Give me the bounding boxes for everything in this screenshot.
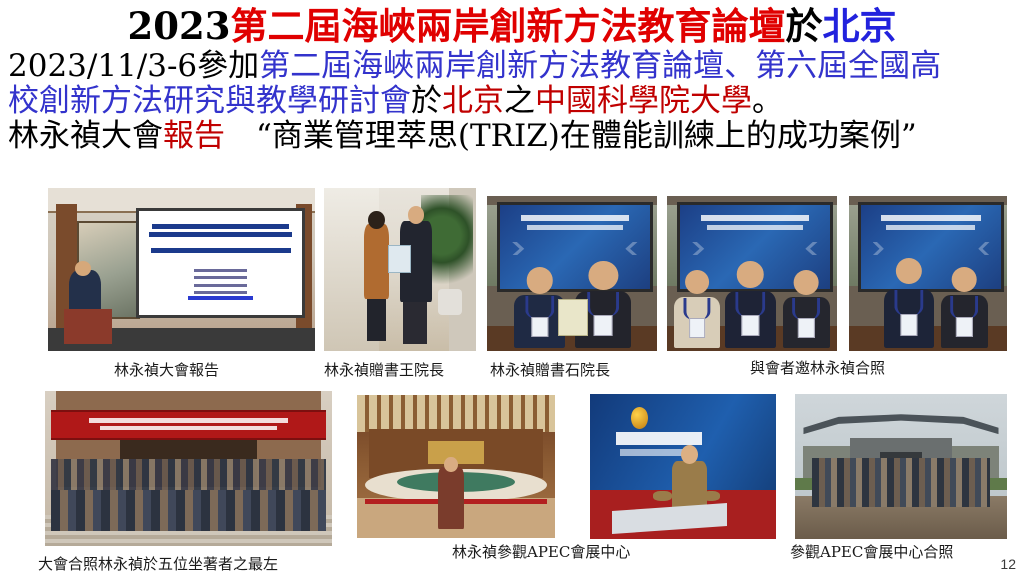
caption-apec-center-group: 參觀APEC會展中心合照 [790,541,953,562]
caption-book-gift-dean-wang: 林永禎贈書王院長 [324,359,444,380]
person-right [783,270,831,348]
photo-attendees-group-b [849,196,1007,351]
caption-conference-group: 大會合照林永禎於五位坐著者之最左 [38,553,278,574]
attendees-group-a-scene [667,196,837,351]
photo-apec-hall-visit [357,395,555,538]
book-gift-shi-scene [487,196,657,351]
photo-conference-group [45,391,332,546]
caption-book-gift-dean-shi: 林永禎贈書石院長 [490,359,610,380]
person-left [884,258,935,348]
caption-apec-hall-visit: 林永禎參觀APEC會展中心 [452,541,630,562]
photo-book-gift-dean-wang [324,188,476,351]
conference-group-scene [45,391,332,546]
photo-apec-forum-stage [590,394,776,539]
photo-apec-center-group [795,394,1007,539]
book-gift-wang-scene [324,188,476,351]
page-number: 12 [1000,556,1016,572]
apec-forum-stage-scene [590,394,776,539]
photo-keynote-speech [48,188,315,351]
caption-attendees-group-a: 與會者邀林永禎合照 [750,357,885,378]
person-right [941,267,988,348]
person-left [674,270,720,348]
apec-center-group-scene [795,394,1007,539]
photo-attendees-group-a [667,196,837,351]
photo-gallery: 林永禎大會報告 林永禎贈書王院長 林永禎贈書石院長 與會者邀林永禎合照 [0,0,1024,576]
photo-book-gift-dean-shi [487,196,657,351]
person-center [725,261,776,348]
attendees-group-b-scene [849,196,1007,351]
caption-keynote-speech: 林永禎大會報告 [114,359,219,380]
keynote-scene [48,188,315,351]
apec-hall-scene [357,395,555,538]
